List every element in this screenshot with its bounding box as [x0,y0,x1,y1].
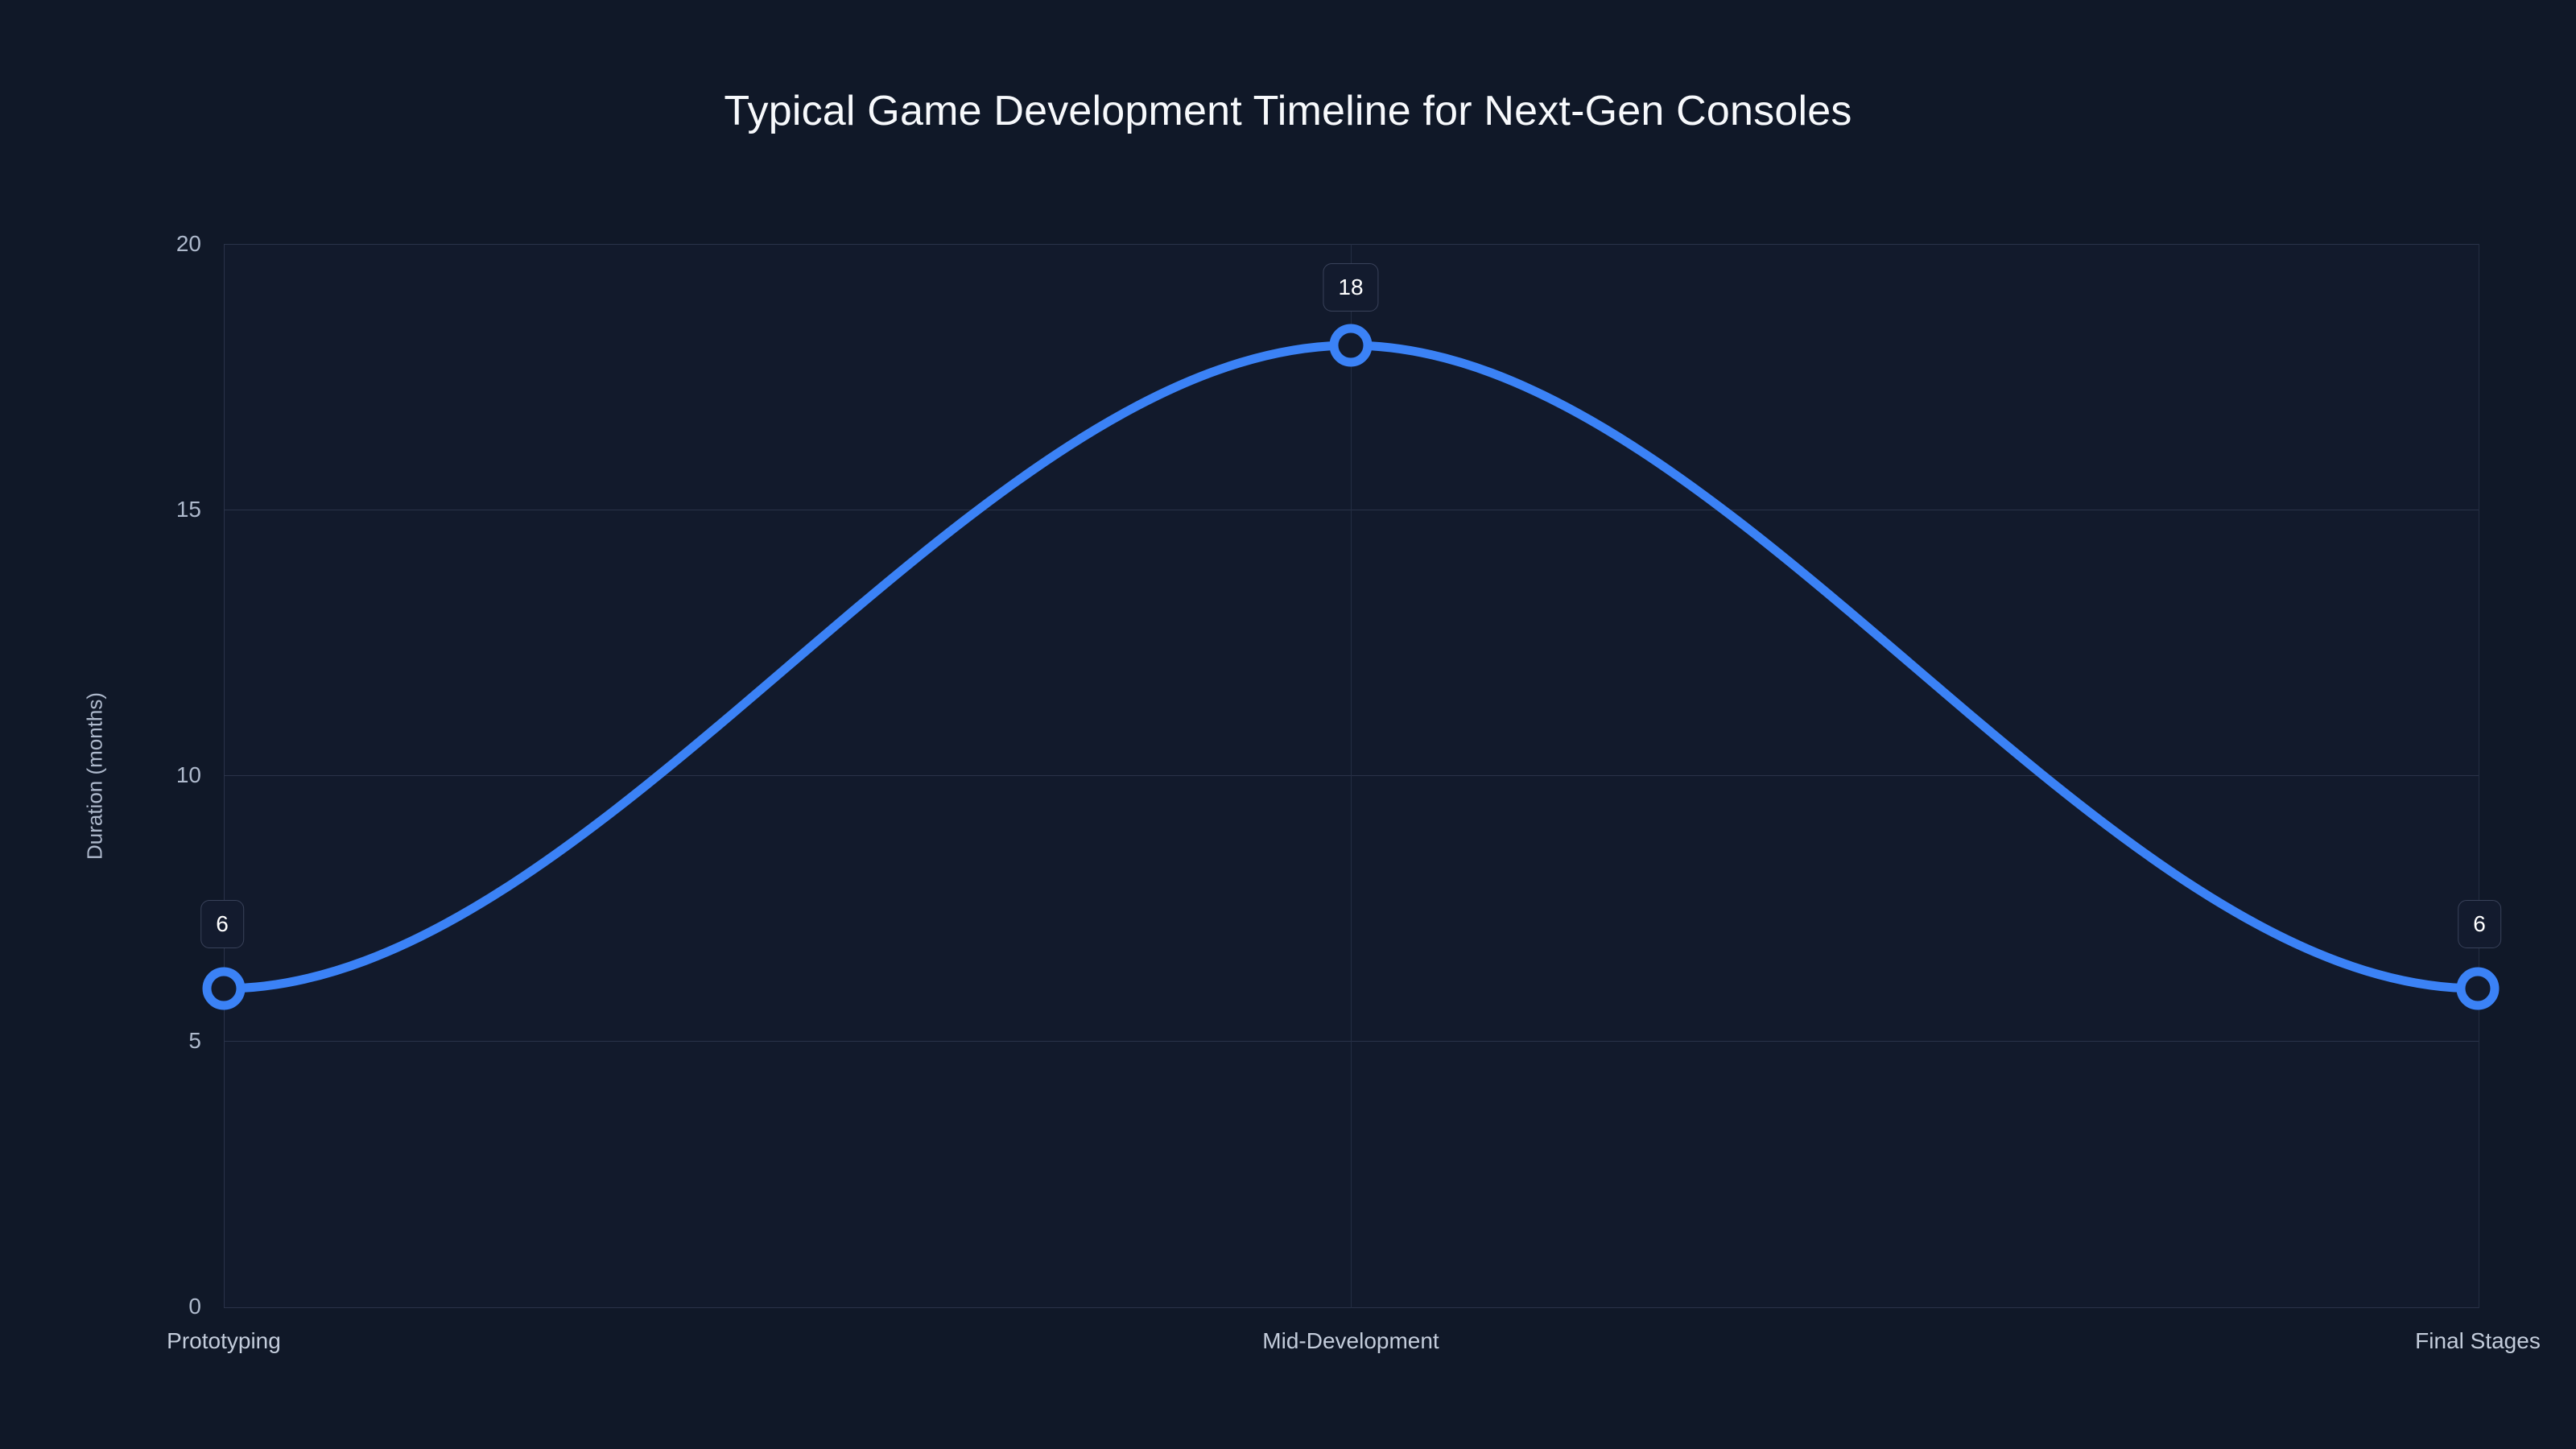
y-axis-tick-10: 10 [137,762,201,788]
gridline-y-5 [224,1041,2479,1042]
gridline-y-20 [224,244,2479,245]
chart-title: Typical Game Development Timeline for Ne… [0,87,2576,135]
y-axis-tick-15: 15 [137,497,201,522]
x-axis-line [224,1307,2479,1308]
data-label-mid-development: 18 [1323,263,1378,312]
x-axis-tick-mid-development: Mid-Development [1262,1328,1439,1354]
gridline-y-15 [224,510,2479,510]
plot-area [224,244,2479,1308]
y-axis-title: Duration (months) [83,692,108,860]
chart-container: Typical Game Development Timeline for Ne… [0,0,2576,1449]
gridline-y-10 [224,775,2479,776]
gridline-x-mid-development [1351,244,1352,1308]
gridline-x-final-stages [2479,244,2479,1308]
y-axis-tick-0: 0 [137,1294,201,1319]
y-axis-tick-5: 5 [137,1028,201,1054]
y-axis-line [224,244,225,1308]
x-axis-tick-prototyping: Prototyping [167,1328,281,1354]
data-label-prototyping: 6 [200,900,244,948]
x-axis-tick-final-stages: Final Stages [2415,1328,2541,1354]
y-axis-tick-20: 20 [137,231,201,257]
data-label-final-stages: 6 [2458,900,2501,948]
